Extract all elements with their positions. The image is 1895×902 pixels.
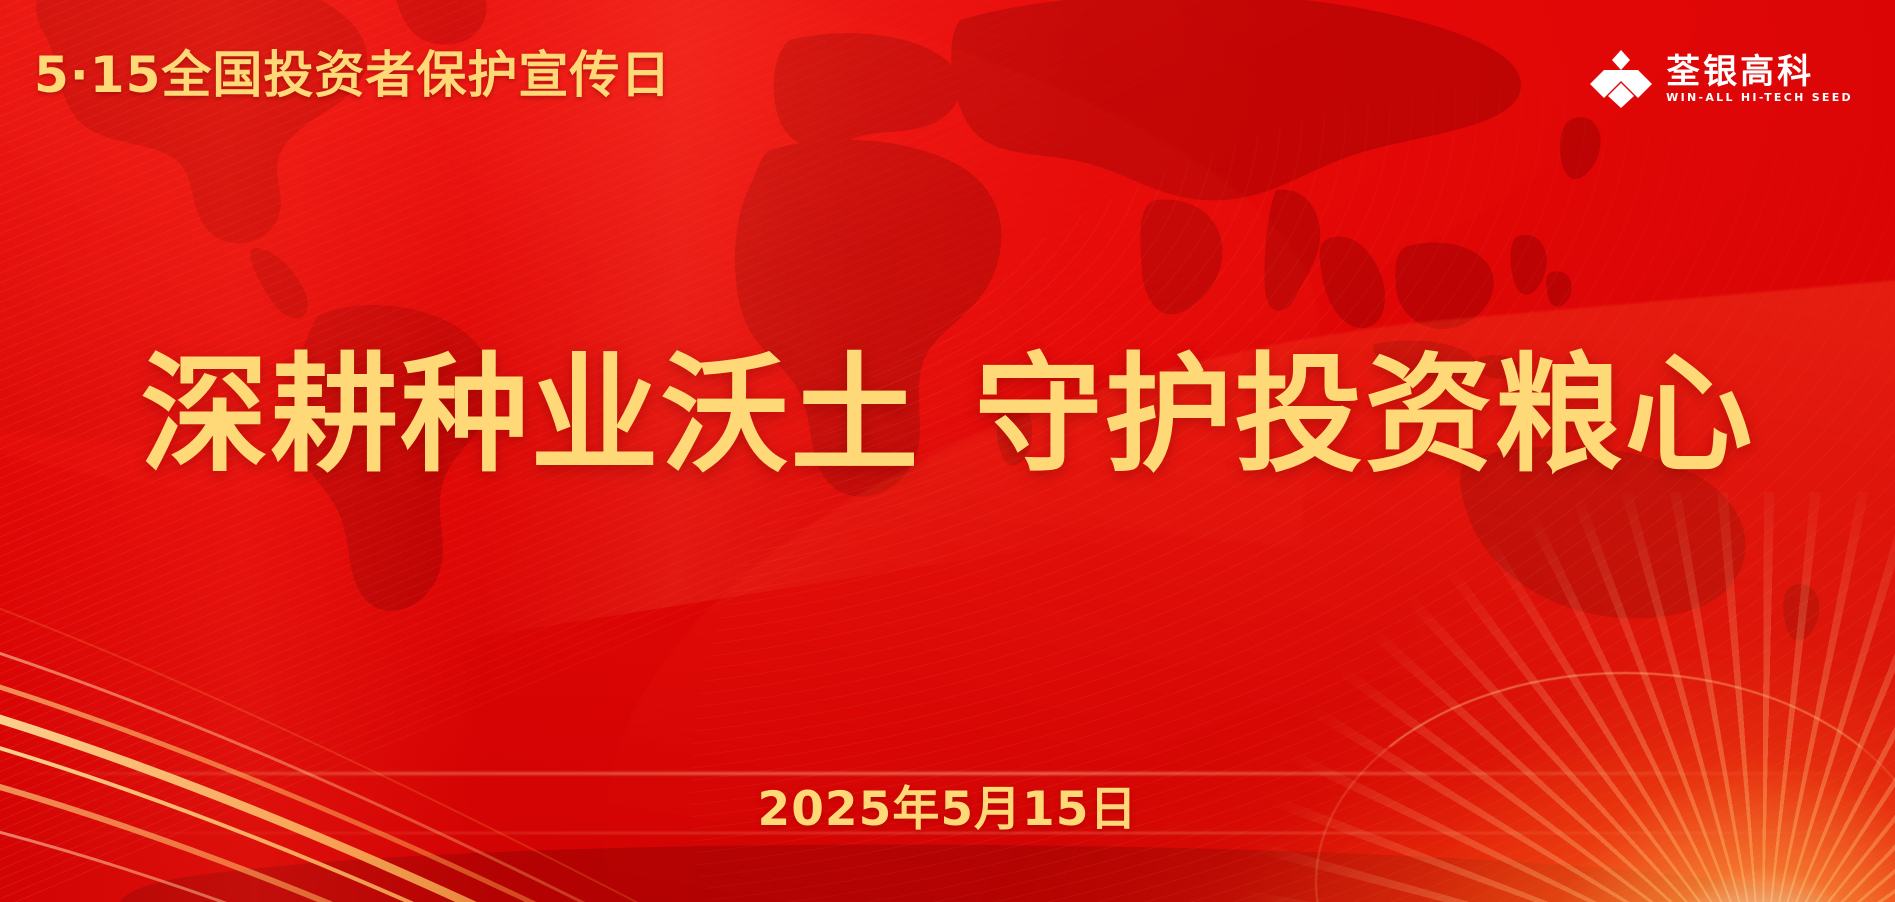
main-headline: 深耕种业沃土守护投资粮心 — [0, 348, 1895, 484]
logo-name-en: WIN-ALL HI-TECH SEED — [1666, 92, 1853, 103]
headline-part-2: 守护投资粮心 — [975, 341, 1755, 490]
headline-part-1: 深耕种业沃土 — [140, 341, 920, 490]
logo-wordmark: 荃银高科 WIN-ALL HI-TECH SEED — [1666, 55, 1853, 103]
logo-name-cn: 荃银高科 — [1666, 55, 1853, 89]
chevron-diamond-icon — [1590, 50, 1652, 108]
poster-content: 5·15全国投资者保护宣传日 荃银高科 WIN-ALL HI-TECH SEED… — [0, 0, 1895, 902]
page-title: 5·15全国投资者保护宣传日 — [34, 50, 671, 100]
event-date: 2025年5月15日 — [0, 786, 1895, 833]
investor-protection-day-poster: 5·15全国投资者保护宣传日 荃银高科 WIN-ALL HI-TECH SEED… — [0, 0, 1895, 902]
brand-logo[interactable]: 荃银高科 WIN-ALL HI-TECH SEED — [1590, 50, 1853, 108]
